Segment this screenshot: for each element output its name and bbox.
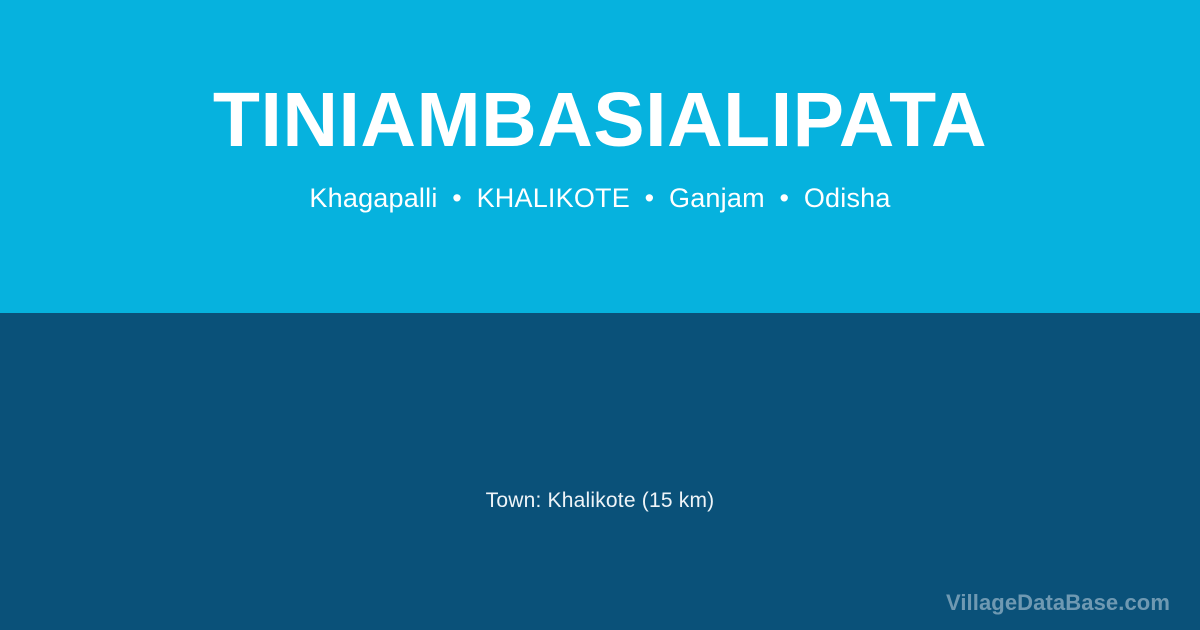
breadcrumb-district: Ganjam [669, 183, 765, 213]
breadcrumb-separator-3: • [772, 183, 796, 213]
location-breadcrumb: Khagapalli • KHALIKOTE • Ganjam • Odisha [309, 183, 890, 214]
breadcrumb-panchayat: Khagapalli [309, 183, 437, 213]
page-title: TINIAMBASIALIPATA [213, 82, 987, 159]
breadcrumb-separator-1: • [445, 183, 469, 213]
hero-banner: TINIAMBASIALIPATA Khagapalli • KHALIKOTE… [0, 0, 1200, 313]
nearest-town-label: Town: Khalikote (15 km) [0, 488, 1200, 513]
village-info-card: TINIAMBASIALIPATA Khagapalli • KHALIKOTE… [0, 0, 1200, 630]
details-panel: Town: Khalikote (15 km) [0, 313, 1200, 630]
site-watermark: VillageDataBase.com [946, 590, 1170, 616]
breadcrumb-block: KHALIKOTE [477, 183, 630, 213]
breadcrumb-separator-2: • [638, 183, 662, 213]
breadcrumb-state: Odisha [804, 183, 891, 213]
